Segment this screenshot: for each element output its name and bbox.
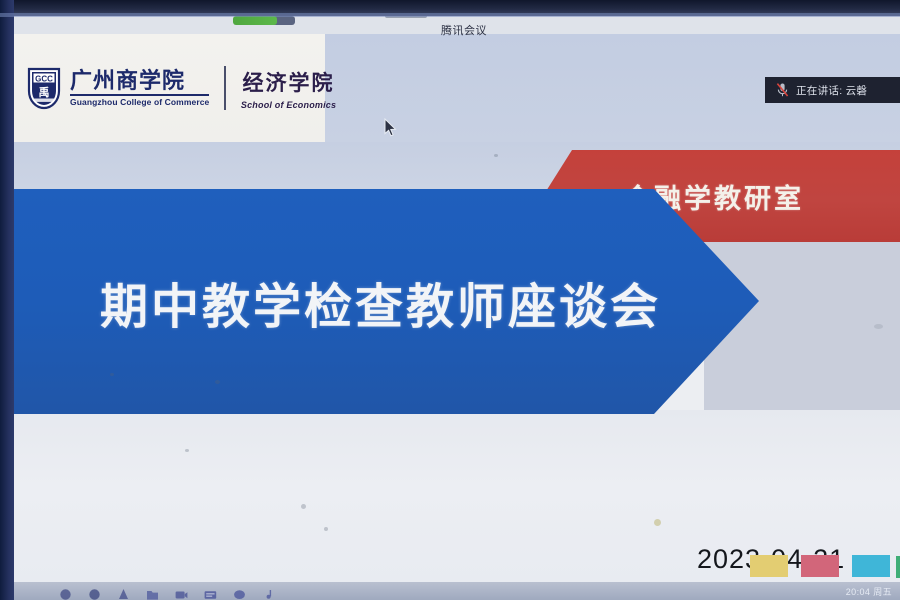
- taskbar-clock[interactable]: 20:04 周五: [846, 585, 892, 598]
- windows-start-icon[interactable]: [58, 586, 73, 600]
- chat-icon[interactable]: [232, 586, 247, 600]
- shared-slide: GCC 禹 广州商学院 Guangzhou College of Commerc…: [14, 34, 900, 584]
- university-name-cn: 广州商学院: [70, 69, 185, 92]
- school-name-en: School of Economics: [241, 100, 336, 110]
- logo-divider-rule: [70, 94, 209, 96]
- swatch-pink[interactable]: [801, 555, 839, 577]
- mic-muted-icon: [776, 82, 789, 98]
- swatch-cyan[interactable]: [852, 555, 890, 577]
- speaking-badge: 正在讲话: 云磬: [765, 77, 900, 103]
- folder-icon[interactable]: [145, 586, 160, 600]
- app-window-title: 腾讯会议: [441, 22, 487, 38]
- speaking-badge-text: 正在讲话: 云磬: [796, 83, 867, 98]
- monitor-bezel-left: [0, 0, 14, 600]
- screen-photo: GCC 禹 广州商学院 Guangzhou College of Commerc…: [0, 0, 900, 600]
- school-name-cn: 经济学院: [243, 67, 335, 97]
- note-icon[interactable]: [203, 586, 218, 600]
- edge-accent: [896, 556, 900, 578]
- svg-text:GCC: GCC: [35, 74, 53, 83]
- progress-indicator: [233, 16, 277, 25]
- gcc-crest-icon: GCC 禹: [26, 66, 62, 110]
- color-swatch-row[interactable]: [750, 555, 900, 577]
- swatch-yellow[interactable]: [750, 555, 788, 577]
- taskbar[interactable]: 20:04 周五: [14, 582, 900, 600]
- music-icon[interactable]: [261, 586, 276, 600]
- user-circle-icon[interactable]: [87, 586, 102, 600]
- svg-text:禹: 禹: [39, 85, 50, 99]
- university-name-en: Guangzhou College of Commerce: [70, 97, 209, 107]
- monitor-bezel-top-highlight: [0, 13, 900, 17]
- browser-icon[interactable]: [116, 586, 131, 600]
- camera-icon[interactable]: [174, 586, 189, 600]
- logo-vertical-divider: [224, 66, 226, 110]
- slide-title: 期中教学检查教师座谈会: [100, 267, 661, 337]
- slide-logo-band: GCC 禹 广州商学院 Guangzhou College of Commerc…: [14, 34, 325, 142]
- blue-arrow-band: 期中教学检查教师座谈会: [14, 189, 759, 414]
- mouse-cursor-icon: [384, 118, 397, 137]
